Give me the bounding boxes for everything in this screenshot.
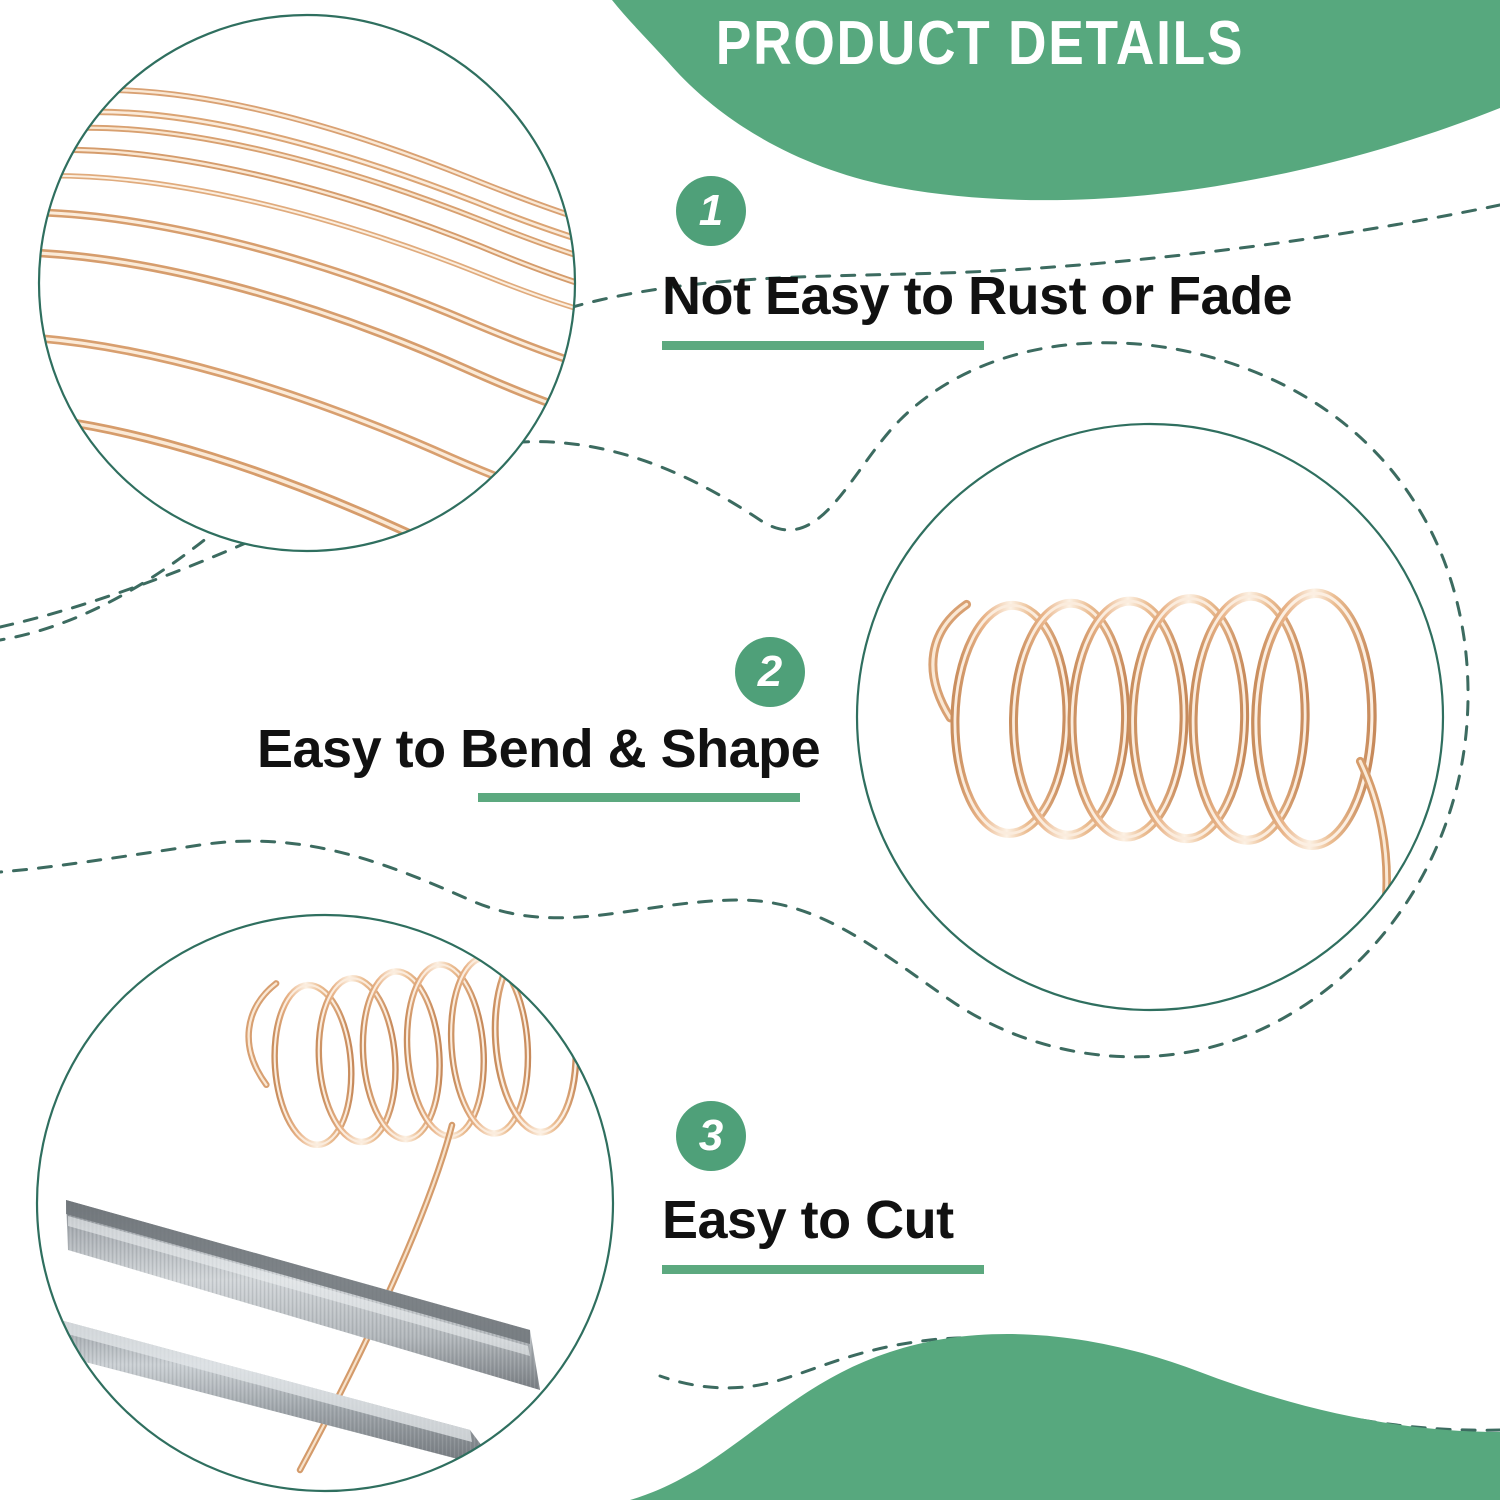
feature-2-underline xyxy=(478,793,800,802)
feature-2-title: Easy to Bend & Shape xyxy=(257,718,820,780)
feature-3-title: Easy to Cut xyxy=(662,1189,954,1251)
feature-2-number-badge: 2 xyxy=(735,637,805,707)
infographic-canvas: PRODUCT DETAILS 1 Not Easy to Rust or Fa… xyxy=(0,0,1500,1500)
page-title: PRODUCT DETAILS xyxy=(688,8,1273,79)
feature-1-underline xyxy=(662,341,984,350)
feature-1-number-badge: 1 xyxy=(676,176,746,246)
feature-3-number-badge: 3 xyxy=(676,1101,746,1171)
feature-3-underline xyxy=(662,1265,984,1274)
text-layer: PRODUCT DETAILS 1 Not Easy to Rust or Fa… xyxy=(0,0,1500,1500)
feature-1-title: Not Easy to Rust or Fade xyxy=(662,265,1292,327)
